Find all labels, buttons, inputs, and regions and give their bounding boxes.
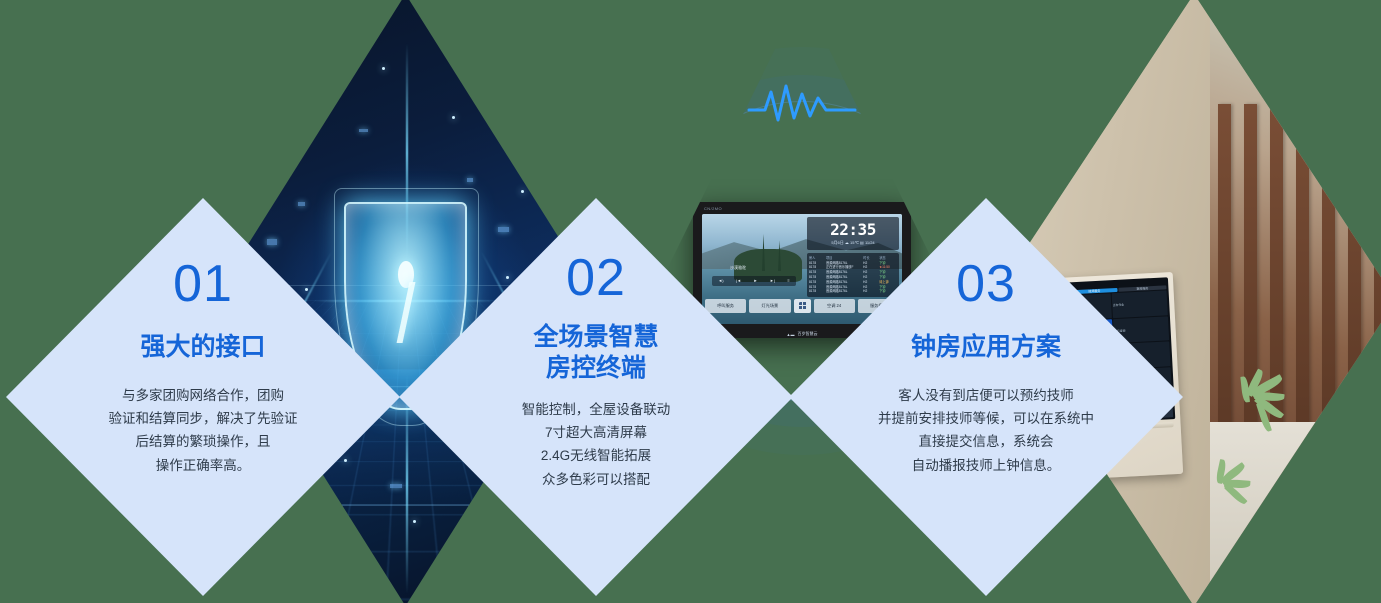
brand-mark-icon: ▲▬ bbox=[787, 332, 795, 337]
clock-widget: 22:35 5月6日 ☁ 15℃ ▤ 11/24 bbox=[807, 217, 899, 250]
table-row: 8178 音源两路8176L H2 下钟 bbox=[809, 289, 897, 294]
air-conditioner-button[interactable]: 空调 24 bbox=[814, 299, 855, 313]
col-dur: 时长 bbox=[863, 255, 877, 260]
clock-subline: 5月6日 ☁ 15℃ ▤ 11/24 bbox=[831, 240, 874, 246]
grid-glyph bbox=[799, 302, 806, 309]
apps-grid-icon[interactable] bbox=[794, 299, 811, 313]
now-playing-label: 沙漠骆驼 bbox=[730, 265, 746, 271]
col-item: 项目 bbox=[826, 255, 861, 260]
tablet-brand-top: CN/2MO bbox=[704, 206, 722, 211]
service-list-widget: 房人 项目 时长 状态 8178 音源两路8176L H2 下钟 817 bbox=[807, 253, 899, 297]
clock-time: 22:35 bbox=[830, 222, 876, 238]
pulse-waveform-icon bbox=[747, 80, 857, 131]
volume-icon: ◄) bbox=[718, 278, 723, 283]
col-room: 房人 bbox=[809, 255, 824, 260]
service-list-header: 房人 项目 时长 状态 bbox=[809, 255, 897, 260]
list-icon: ≡ bbox=[787, 278, 789, 283]
call-service-button[interactable]: 呼叫服务 bbox=[705, 299, 746, 313]
list-item[interactable]: 正在作业 bbox=[1111, 290, 1167, 317]
media-player-bar: ◄) |◄ ► ►| ≡ bbox=[712, 276, 796, 286]
feature-diamond-board: CN/2MO 22:35 5月6日 ☁ 15℃ ▤ 11/24 房人 bbox=[0, 0, 1381, 603]
tablet-screen: 22:35 5月6日 ☁ 15℃ ▤ 11/24 房人 项目 时长 状态 817… bbox=[702, 214, 902, 324]
col-state: 状态 bbox=[879, 255, 897, 260]
quick-action-bar: 呼叫服务 灯光场景 空调 24 服务模式 bbox=[705, 299, 899, 313]
next-icon: ►| bbox=[770, 278, 775, 283]
prev-icon: |◄ bbox=[736, 278, 741, 283]
potted-plant bbox=[1194, 447, 1274, 547]
light-scene-button[interactable]: 灯光场景 bbox=[749, 299, 790, 313]
play-icon: ► bbox=[753, 278, 757, 283]
